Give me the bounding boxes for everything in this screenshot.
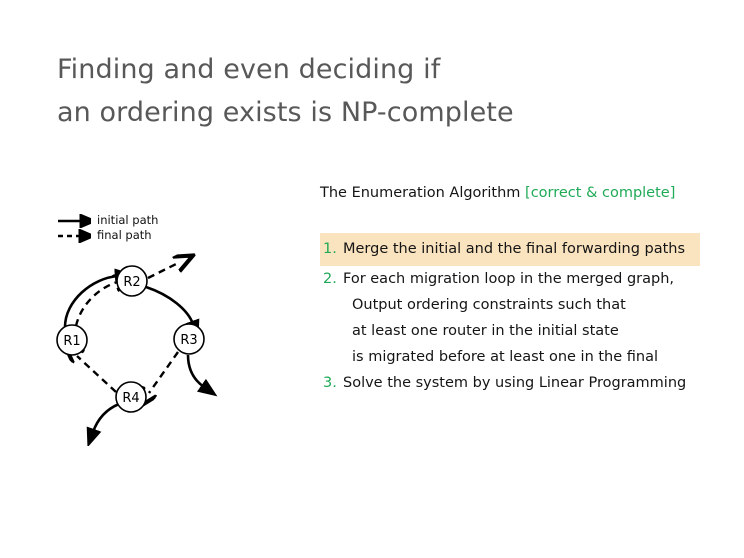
graph-node-label-r3: R3 xyxy=(180,333,197,348)
algorithm-step-2-continuation-3-text: is migrated before at least one in the f… xyxy=(352,344,658,370)
legend-item-initial-path: initial path xyxy=(57,212,257,227)
edge-initial-r1-r2 xyxy=(65,276,118,327)
algorithm-step-1-text: Merge the initial and the final forwardi… xyxy=(343,236,685,262)
algorithm-step-2-continuation-1: Output ordering constraints such that xyxy=(320,292,720,318)
graph-node-r1: R1 xyxy=(57,325,87,355)
edge-initial-r2-r3 xyxy=(146,287,193,324)
title-line-1: Finding and even deciding if xyxy=(57,48,697,91)
algorithm-step-2: 2. For each migration loop in the merged… xyxy=(320,266,720,292)
algorithm-step-2-continuation-3: is migrated before at least one in the f… xyxy=(320,344,720,370)
graph-nodes: R1 R2 R3 R4 xyxy=(57,266,204,412)
edge-initial-r3-exit xyxy=(188,355,204,387)
graph-node-label-r2: R2 xyxy=(123,275,140,290)
algorithm-step-1: 1. Merge the initial and the final forwa… xyxy=(320,233,700,266)
algorithm-step-2-number: 2. xyxy=(323,266,343,292)
graph-node-r4: R4 xyxy=(116,382,146,412)
graph-node-r3: R3 xyxy=(174,324,204,354)
graph-node-r2: R2 xyxy=(117,266,147,296)
graph-node-label-r4: R4 xyxy=(122,391,139,406)
algorithm-step-2-text: For each migration loop in the merged gr… xyxy=(343,266,674,292)
algorithm-step-2-continuation-2-text: at least one router in the initial state xyxy=(352,318,619,344)
algorithm-heading-tag: [correct & complete] xyxy=(525,185,675,201)
graph-node-label-r1: R1 xyxy=(63,334,80,349)
algorithm-heading-main: The Enumeration Algorithm xyxy=(320,185,525,201)
algorithm-step-3: 3. Solve the system by using Linear Prog… xyxy=(320,370,720,396)
legend-label-initial-path: initial path xyxy=(97,213,158,227)
algorithm-step-2-continuation-2: at least one router in the initial state xyxy=(320,318,720,344)
step-indent-spacer xyxy=(323,318,352,344)
diagram-legend: initial path final path xyxy=(57,212,257,242)
edge-final-r3-r4 xyxy=(149,352,178,393)
edge-initial-r4-exit xyxy=(93,404,119,432)
title-line-2: an ordering exists is NP-complete xyxy=(57,91,697,134)
step-indent-spacer xyxy=(323,292,352,318)
algorithm-step-3-text: Solve the system by using Linear Program… xyxy=(343,370,686,396)
edge-final-r4-r1 xyxy=(77,356,116,392)
dashed-arrow-icon xyxy=(57,228,91,242)
algorithm-panel: The Enumeration Algorithm [correct & com… xyxy=(320,183,720,396)
edge-final-r2-exit xyxy=(148,263,178,278)
legend-item-final-path: final path xyxy=(57,227,257,242)
algorithm-step-2-continuation-1-text: Output ordering constraints such that xyxy=(352,292,626,318)
page-title: Finding and even deciding if an ordering… xyxy=(57,48,697,134)
algorithm-heading: The Enumeration Algorithm [correct & com… xyxy=(320,183,720,203)
edge-final-r1-r2 xyxy=(76,282,117,326)
solid-arrow-icon xyxy=(57,213,91,227)
migration-graph-diagram: R1 R2 R3 R4 xyxy=(36,246,236,446)
step-indent-spacer xyxy=(323,344,352,370)
algorithm-step-3-number: 3. xyxy=(323,370,343,396)
algorithm-step-1-number: 1. xyxy=(323,236,343,262)
legend-label-final-path: final path xyxy=(97,228,152,242)
